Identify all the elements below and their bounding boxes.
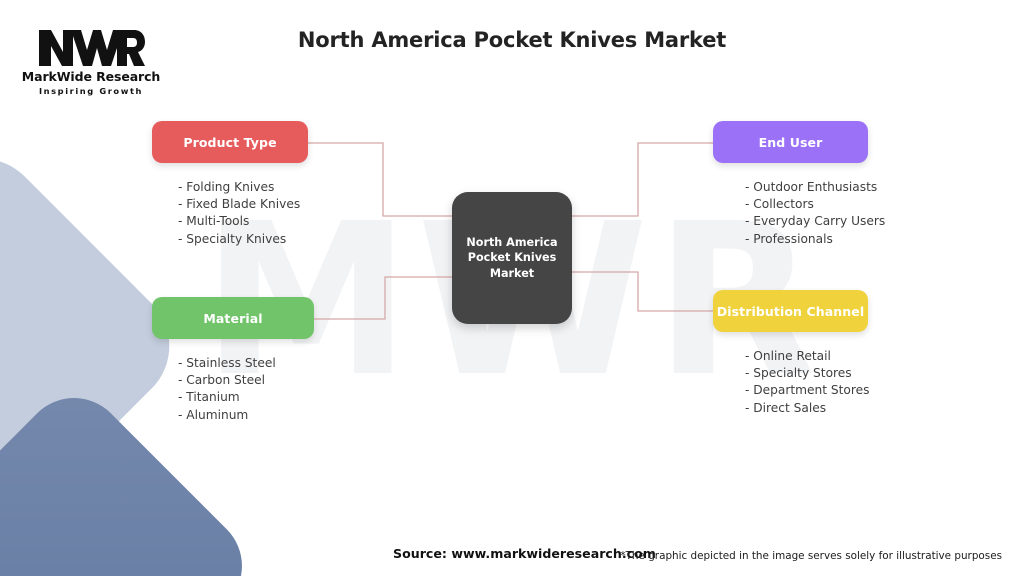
list-item: - Everyday Carry Users xyxy=(745,213,868,230)
list-item: - Stainless Steel xyxy=(178,355,314,372)
list-item: - Aluminum xyxy=(178,407,314,424)
branch-items-end-user: - Outdoor Enthusiasts - Collectors - Eve… xyxy=(713,179,868,248)
branch-product-type[interactable]: Product Type - Folding Knives - Fixed Bl… xyxy=(152,121,308,248)
brand-name: MarkWide Research xyxy=(16,69,166,84)
list-item: - Titanium xyxy=(178,389,314,406)
list-item: - Folding Knives xyxy=(178,179,308,196)
branch-end-user[interactable]: End User - Outdoor Enthusiasts - Collect… xyxy=(713,121,868,248)
list-item: - Department Stores xyxy=(745,382,868,399)
brand-tagline: Inspiring Growth xyxy=(16,86,166,96)
branch-header-material[interactable]: Material xyxy=(152,297,314,339)
branch-label: Product Type xyxy=(183,135,276,150)
center-node[interactable]: North America Pocket Knives Market xyxy=(452,192,572,324)
branch-label: Distribution Channel xyxy=(717,304,865,319)
list-item: - Multi-Tools xyxy=(178,213,308,230)
list-item: - Professionals xyxy=(745,231,868,248)
branch-items-distribution-channel: - Online Retail - Specialty Stores - Dep… xyxy=(713,348,868,417)
list-item: - Collectors xyxy=(745,196,868,213)
page-title: North America Pocket Knives Market xyxy=(0,28,1024,52)
list-item: - Online Retail xyxy=(745,348,868,365)
branch-label: End User xyxy=(759,135,823,150)
branch-material[interactable]: Material - Stainless Steel - Carbon Stee… xyxy=(152,297,314,424)
infographic-canvas: MWR MarkWide Research Inspiring Growth N… xyxy=(0,0,1024,576)
branch-header-distribution-channel[interactable]: Distribution Channel xyxy=(713,290,868,332)
connector-end-user xyxy=(572,143,713,216)
connector-distribution-channel xyxy=(572,272,713,311)
list-item: - Carbon Steel xyxy=(178,372,314,389)
branch-label: Material xyxy=(203,311,262,326)
list-item: - Specialty Knives xyxy=(178,231,308,248)
connector-material xyxy=(314,277,452,319)
center-node-line-1: North America xyxy=(466,235,557,251)
branch-items-product-type: - Folding Knives - Fixed Blade Knives - … xyxy=(152,179,308,248)
branch-header-end-user[interactable]: End User xyxy=(713,121,868,163)
connector-product-type xyxy=(308,143,452,216)
list-item: - Specialty Stores xyxy=(745,365,868,382)
branch-items-material: - Stainless Steel - Carbon Steel - Titan… xyxy=(152,355,314,424)
center-node-line-3: Market xyxy=(490,266,534,282)
center-node-line-2: Pocket Knives xyxy=(468,250,557,266)
branch-distribution-channel[interactable]: Distribution Channel - Online Retail - S… xyxy=(713,290,868,417)
list-item: - Fixed Blade Knives xyxy=(178,196,308,213)
source-text: Source: www.markwideresearch.com xyxy=(393,546,656,561)
disclaimer-text: *The graphic depicted in the image serve… xyxy=(620,550,1002,562)
list-item: - Direct Sales xyxy=(745,400,868,417)
list-item: - Outdoor Enthusiasts xyxy=(745,179,868,196)
branch-header-product-type[interactable]: Product Type xyxy=(152,121,308,163)
